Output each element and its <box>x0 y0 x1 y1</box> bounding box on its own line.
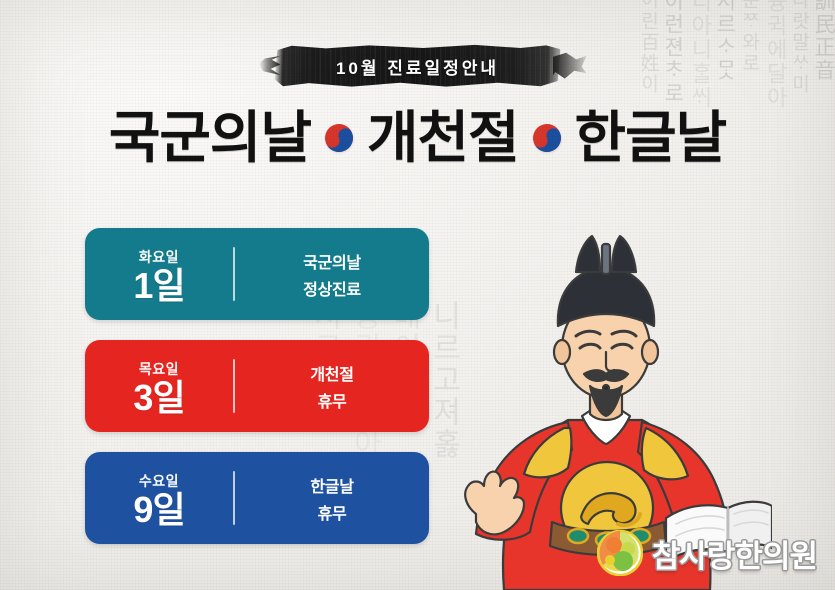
schedule-card: 화요일 1일 국군의날 정상진료 <box>85 228 429 320</box>
clinic-status-label: 정상진료 <box>303 276 361 300</box>
headline: 국군의날 개천절 한글날 <box>0 110 835 166</box>
holiday-name-label: 개천절 <box>310 361 353 385</box>
clinic-status-label: 휴무 <box>318 388 347 412</box>
schedule-card: 수요일 9일 한글날 휴무 <box>85 452 429 544</box>
headline-word-1: 국군의날 <box>109 110 311 166</box>
schedule-card-date: 목요일 3일 <box>85 357 233 416</box>
holiday-name-label: 한글날 <box>310 473 353 497</box>
banner-title: 10월 진료일정안내 <box>336 54 499 79</box>
clinic-status-label: 휴무 <box>318 500 347 524</box>
schedule-card-info: 개천절 휴무 <box>235 361 429 412</box>
poster-canvas: 訓民正音 나랏말ᄊᆞ미 듕귁에달아 문ᄍᆞ와로 서르ᄉᆞᄆᆞᆺ 디아니ᄒᆞᆯᄊᆡ… <box>0 0 835 590</box>
taegeuk-icon <box>528 120 564 156</box>
day-number-label: 3일 <box>133 380 184 416</box>
schedule-card-info: 국군의날 정상진료 <box>235 249 429 300</box>
brush-stroke-shape: 10월 진료일정안내 <box>275 44 561 88</box>
day-of-week-label: 화요일 <box>139 247 179 267</box>
day-of-week-label: 수요일 <box>139 471 179 491</box>
schedule-card-date: 수요일 9일 <box>85 469 233 528</box>
clinic-logo: 참사랑한의원 <box>597 530 817 576</box>
headline-word-3: 한글날 <box>575 110 727 166</box>
header-banner: 10월 진료일정안내 <box>0 44 835 88</box>
clinic-circle-logo-icon <box>597 530 643 576</box>
day-number-label: 9일 <box>133 492 184 528</box>
schedule-card-info: 한글날 휴무 <box>235 473 429 524</box>
day-number-label: 1일 <box>133 268 184 304</box>
schedule-card: 목요일 3일 개천절 휴무 <box>85 340 429 432</box>
schedule-card-date: 화요일 1일 <box>85 245 233 304</box>
day-of-week-label: 목요일 <box>139 359 179 379</box>
holiday-name-label: 국군의날 <box>303 249 361 273</box>
clinic-name-label: 참사랑한의원 <box>652 531 817 576</box>
headline-word-2: 개천절 <box>367 110 519 166</box>
schedule-card-list: 화요일 1일 국군의날 정상진료 목요일 3일 개천절 휴무 수요일 9 <box>85 228 429 544</box>
taegeuk-icon <box>321 120 357 156</box>
